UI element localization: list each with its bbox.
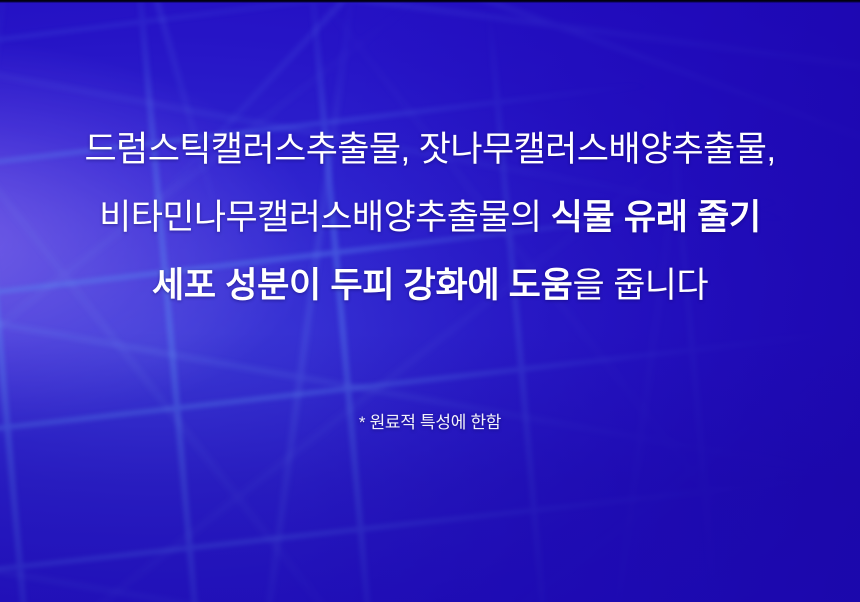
headline-line-2-emphasis: 식물 유래 줄기 xyxy=(551,198,761,237)
headline-block: 드럼스틱캘러스추출물, 잣나무캘러스배양추출물, 비타민나무캘러스배양추출물의 … xyxy=(0,116,860,320)
headline-line-2-regular: 비타민나무캘러스배양추출물의 xyxy=(99,198,551,237)
headline-line-3-emphasis: 세포 성분이 두피 강화에 도움 xyxy=(152,266,573,305)
headline-line-3: 세포 성분이 두피 강화에 도움을 줍니다 xyxy=(0,252,860,320)
footnote-disclaimer: * 원료적 특성에 한함 xyxy=(0,411,860,435)
headline-line-1: 드럼스틱캘러스추출물, 잣나무캘러스배양추출물, xyxy=(0,116,860,184)
headline-line-3-regular: 을 줍니다 xyxy=(572,266,708,305)
headline-line-2: 비타민나무캘러스배양추출물의 식물 유래 줄기 xyxy=(0,184,860,252)
ingredient-promo-banner: 드럼스틱캘러스추출물, 잣나무캘러스배양추출물, 비타민나무캘러스배양추출물의 … xyxy=(0,0,860,602)
banner-content: 드럼스틱캘러스추출물, 잣나무캘러스배양추출물, 비타민나무캘러스배양추출물의 … xyxy=(0,0,860,602)
headline-line-1-text: 드럼스틱캘러스추출물, 잣나무캘러스배양추출물, xyxy=(85,130,776,169)
